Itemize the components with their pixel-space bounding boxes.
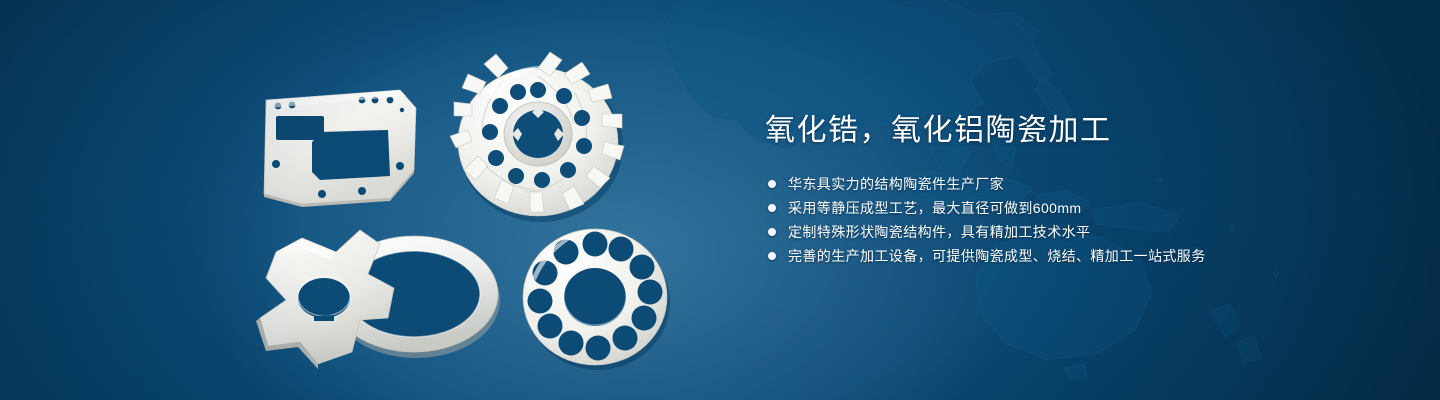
list-item: 完善的生产加工设备，可提供陶瓷成型、烧结、精加工一站式服务: [765, 244, 1285, 268]
bullet-dot-icon: [768, 228, 776, 236]
bullet-dot-icon: [768, 252, 776, 260]
ceramic-star-and-ring-image: [248, 222, 516, 372]
ceramic-impeller-image: [446, 46, 632, 226]
list-item: 华东具实力的结构陶瓷件生产厂家: [765, 172, 1285, 196]
feature-text: 完善的生产加工设备，可提供陶瓷成型、烧结、精加工一站式服务: [788, 244, 1206, 268]
list-item: 定制特殊形状陶瓷结构件，具有精加工技术水平: [765, 220, 1285, 244]
hero-banner: 氧化锆，氧化铝陶瓷加工 华东具实力的结构陶瓷件生产厂家 采用等静压成型工艺，最大…: [0, 0, 1440, 400]
list-item: 采用等静压成型工艺，最大直径可做到600mm: [765, 196, 1285, 220]
feature-text: 定制特殊形状陶瓷结构件，具有精加工技术水平: [788, 220, 1090, 244]
feature-text: 采用等静压成型工艺，最大直径可做到600mm: [788, 196, 1081, 220]
page-title: 氧化锆，氧化铝陶瓷加工: [765, 112, 1285, 150]
bullet-dot-icon: [768, 180, 776, 188]
bullet-dot-icon: [768, 204, 776, 212]
feature-text: 华东具实力的结构陶瓷件生产厂家: [788, 172, 1004, 196]
banner-copy: 氧化锆，氧化铝陶瓷加工 华东具实力的结构陶瓷件生产厂家 采用等静压成型工艺，最大…: [765, 112, 1285, 268]
ceramic-plate-image: [250, 78, 430, 213]
ceramic-hole-disc-image: [518, 222, 674, 374]
feature-list: 华东具实力的结构陶瓷件生产厂家 采用等静压成型工艺，最大直径可做到600mm 定…: [765, 172, 1285, 268]
